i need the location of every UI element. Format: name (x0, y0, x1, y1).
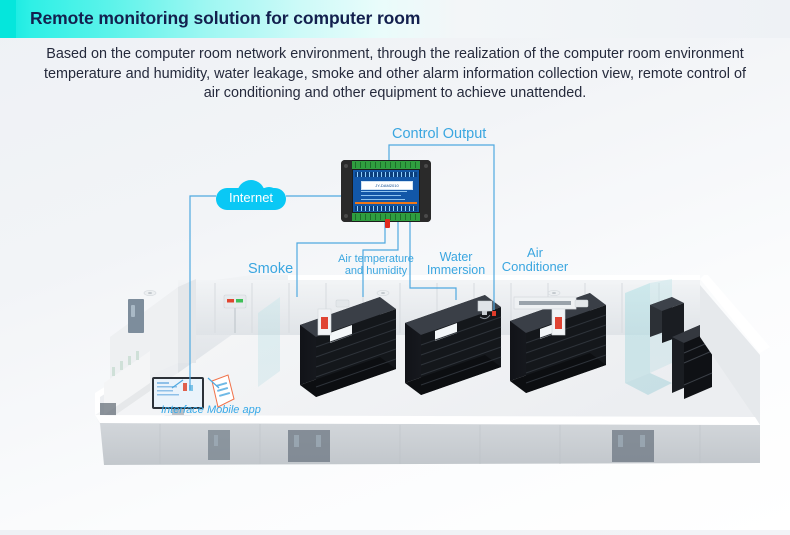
module-screw-tl (344, 164, 348, 168)
module-screw-tr (424, 164, 428, 168)
module-bracket-right (420, 160, 431, 222)
header-accent-block (0, 0, 16, 38)
controller-module[interactable]: JY-DAM2010 (341, 160, 431, 222)
label-temp-line2: and humidity (345, 265, 407, 277)
terminal-block-top (352, 161, 420, 169)
fire-cabinet-2 (552, 309, 565, 335)
label-water-immersion: Water Immersion (420, 251, 492, 277)
page-title: Remote monitoring solution for computer … (30, 8, 420, 29)
label-air-line2: Conditioner (502, 259, 569, 274)
label-air-line1: Air (527, 245, 543, 260)
smoke-detector-1 (144, 290, 156, 295)
pcb-header-bottom (355, 206, 417, 211)
module-bracket-left (341, 160, 352, 222)
computer-room-illustration (0, 275, 790, 535)
module-screw-br (424, 214, 428, 218)
label-mobile-app: Mobile app (207, 404, 261, 416)
pcb-orange-stripe (355, 202, 417, 204)
air-conditioner-unit (514, 297, 576, 309)
module-screw-bl (344, 214, 348, 218)
fire-cabinet-1 (318, 309, 331, 335)
power-indicator-led (385, 219, 390, 228)
label-interface: Interface (161, 404, 204, 416)
internet-cloud[interactable]: Internet (216, 180, 286, 212)
smoke-detector-3 (548, 290, 560, 295)
front-wall (100, 423, 760, 465)
label-temp-line1: Air temperature (338, 253, 414, 265)
label-control-output: Control Output (392, 126, 486, 142)
office-door-window (131, 305, 135, 317)
label-air-temperature-humidity: Air temperature and humidity (334, 254, 418, 277)
module-model-label: JY-DAM2010 (361, 181, 413, 190)
office-door (128, 299, 144, 333)
module-pcb: JY-DAM2010 (353, 170, 419, 212)
intro-paragraph: Based on the computer room network envir… (40, 45, 750, 104)
label-water-line2: Immersion (427, 263, 485, 277)
slide-root: Remote monitoring solution for computer … (0, 0, 790, 530)
office-partition (178, 279, 196, 363)
glass-enclosure (625, 283, 650, 383)
internet-label: Internet (216, 190, 286, 205)
pcb-header-top (355, 172, 417, 177)
label-air-conditioner: Air Conditioner (495, 246, 575, 274)
label-smoke: Smoke (248, 261, 293, 277)
smoke-detector-2 (377, 290, 389, 295)
label-water-line1: Water (440, 250, 473, 264)
